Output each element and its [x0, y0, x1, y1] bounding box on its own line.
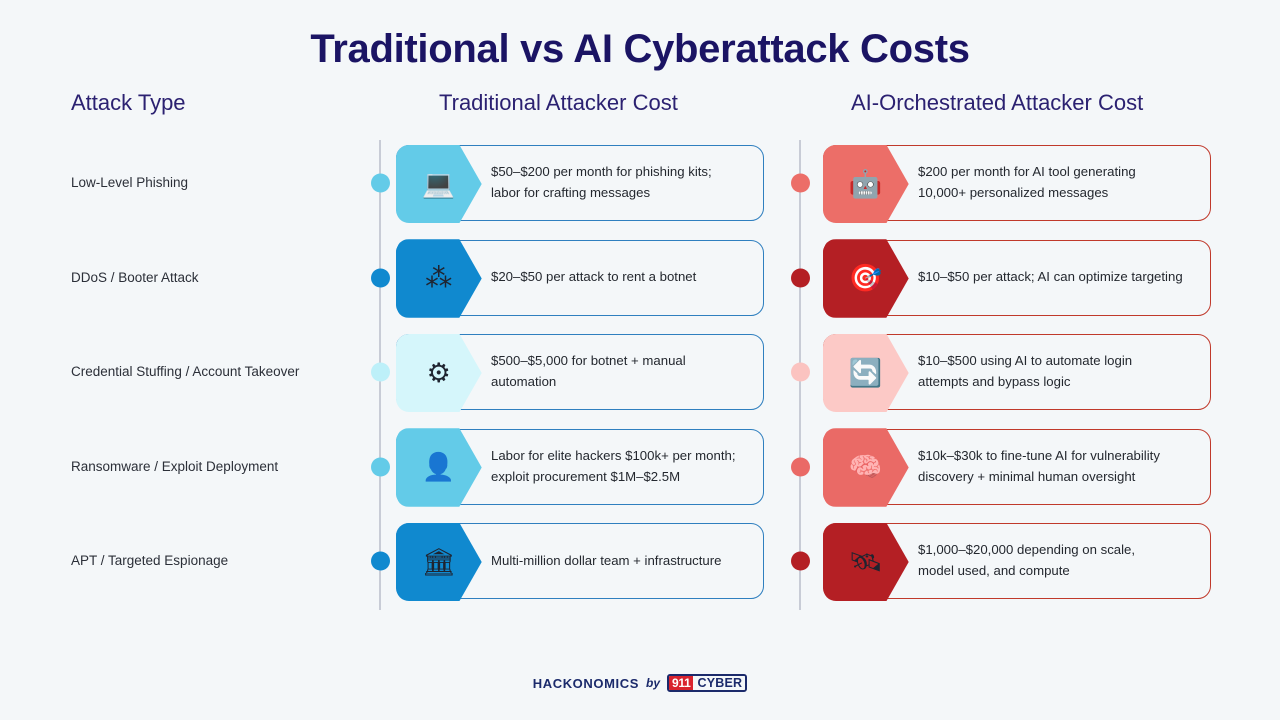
- table-row: DDoS / Booter Attack⁂$20–$50 per attack …: [0, 233, 1280, 323]
- table-row: Low-Level Phishing💻$50–$200 per month fo…: [0, 138, 1280, 228]
- cost-card-text: $200 per month for AI tool generating 10…: [918, 162, 1136, 204]
- refresh-icon: 🔄: [823, 334, 909, 413]
- cost-card-text: $50–$200 per month for phishing kits; la…: [491, 162, 712, 204]
- timeline-dot-trad: [371, 174, 390, 193]
- cost-card-trad[interactable]: 🏛Multi-million dollar team + infrastruct…: [396, 523, 764, 599]
- cost-card-ai[interactable]: 🧠$10k–$30k to fine-tune AI for vulnerabi…: [823, 429, 1211, 505]
- timeline-dot-ai: [791, 457, 810, 476]
- footer-branding: HACKONOMICS by 911 CYBER: [0, 674, 1280, 692]
- timeline-dot-ai: [791, 268, 810, 287]
- timeline-dot-ai: [791, 174, 810, 193]
- botnet-icon: ⁂: [396, 239, 482, 318]
- column-header-ai: AI-Orchestrated Attacker Cost: [851, 90, 1143, 116]
- table-row: APT / Targeted Espionage🏛Multi-million d…: [0, 516, 1280, 606]
- cost-card-ai[interactable]: 🤖$200 per month for AI tool generating 1…: [823, 145, 1211, 221]
- cost-card-text: $10k–$30k to fine-tune AI for vulnerabil…: [918, 446, 1160, 488]
- laptop-icon: 💻: [396, 145, 482, 224]
- timeline-dot-trad: [371, 552, 390, 571]
- column-header-attack-type: Attack Type: [71, 90, 186, 116]
- cost-card-trad[interactable]: 👤Labor for elite hackers $100k+ per mont…: [396, 429, 764, 505]
- cost-card-ai[interactable]: 🎯$10–$50 per attack; AI can optimize tar…: [823, 240, 1211, 316]
- cost-card-text: $20–$50 per attack to rent a botnet: [491, 267, 696, 288]
- timeline-dot-trad: [371, 363, 390, 382]
- page-title: Traditional vs AI Cyberattack Costs: [0, 0, 1280, 72]
- cost-card-text: Multi-million dollar team + infrastructu…: [491, 551, 722, 572]
- cost-card-text: $10–$500 using AI to automate login atte…: [918, 351, 1132, 393]
- user-icon: 👤: [396, 428, 482, 507]
- cost-card-trad[interactable]: 💻$50–$200 per month for phishing kits; l…: [396, 145, 764, 221]
- footer-brand-name: HACKONOMICS: [533, 676, 639, 691]
- timeline-dot-trad: [371, 457, 390, 476]
- cyber-logo: 911 CYBER: [667, 674, 747, 692]
- brain-icon: 🧠: [823, 428, 909, 507]
- timeline-dot-ai: [791, 363, 810, 382]
- government-building-icon: 🏛: [396, 523, 482, 602]
- table-row: Ransomware / Exploit Deployment👤Labor fo…: [0, 422, 1280, 512]
- row-label-attack-type: Credential Stuffing / Account Takeover: [71, 363, 361, 381]
- timeline-dot-ai: [791, 552, 810, 571]
- logo-number-911: 911: [669, 674, 693, 692]
- logo-word-cyber: CYBER: [693, 674, 745, 692]
- row-label-attack-type: APT / Targeted Espionage: [71, 552, 361, 570]
- gear-icon: ⚙: [396, 334, 482, 413]
- row-label-attack-type: Ransomware / Exploit Deployment: [71, 457, 361, 475]
- cost-card-text: $10–$50 per attack; AI can optimize targ…: [918, 267, 1183, 288]
- cost-card-ai[interactable]: 🔄$10–$500 using AI to automate login att…: [823, 334, 1211, 410]
- timeline-dot-trad: [371, 268, 390, 287]
- cost-card-ai[interactable]: 🛰$1,000–$20,000 depending on scale, mode…: [823, 523, 1211, 599]
- satellite-icon: 🛰: [823, 523, 909, 602]
- cost-card-text: $1,000–$20,000 depending on scale, model…: [918, 540, 1135, 582]
- robot-icon: 🤖: [823, 145, 909, 224]
- cost-card-text: Labor for elite hackers $100k+ per month…: [491, 446, 735, 488]
- comparison-board: Low-Level Phishing💻$50–$200 per month fo…: [0, 138, 1280, 618]
- row-label-attack-type: DDoS / Booter Attack: [71, 268, 361, 286]
- footer-by-label: by: [646, 676, 660, 690]
- row-label-attack-type: Low-Level Phishing: [71, 174, 361, 192]
- cost-card-trad[interactable]: ⚙$500–$5,000 for botnet + manual automat…: [396, 334, 764, 410]
- cost-card-trad[interactable]: ⁂$20–$50 per attack to rent a botnet: [396, 240, 764, 316]
- target-icon: 🎯: [823, 239, 909, 318]
- column-header-traditional: Traditional Attacker Cost: [439, 90, 678, 116]
- table-row: Credential Stuffing / Account Takeover⚙$…: [0, 327, 1280, 417]
- cost-card-text: $500–$5,000 for botnet + manual automati…: [491, 351, 686, 393]
- column-headers: Attack Type Traditional Attacker Cost AI…: [0, 90, 1280, 130]
